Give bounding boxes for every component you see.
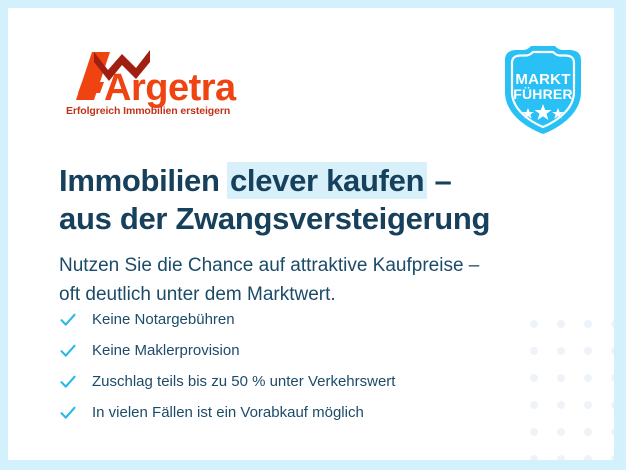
decorative-dot xyxy=(584,347,592,355)
decorative-dot xyxy=(584,428,592,436)
list-item: Zuschlag teils bis zu 50 % unter Verkehr… xyxy=(59,366,519,397)
argetra-logo: Argetra Erfolgreich Immobilien ersteiger… xyxy=(64,48,264,118)
headline-highlight: clever kaufen xyxy=(227,162,427,199)
list-item-label: Keine Maklerprovision xyxy=(92,342,240,359)
list-item: Keine Notargebühren xyxy=(59,304,519,335)
banner-content-area: Argetra Erfolgreich Immobilien ersteiger… xyxy=(8,8,614,460)
badge-line2: FÜHRER xyxy=(513,86,573,102)
decorative-dot xyxy=(557,401,565,409)
list-item-label: Keine Notargebühren xyxy=(92,311,235,328)
decorative-dot xyxy=(584,455,592,460)
decorative-dot xyxy=(557,347,565,355)
decorative-dot xyxy=(530,401,538,409)
decorative-dot xyxy=(557,455,565,460)
decorative-dot xyxy=(530,320,538,328)
subheadline-line1: Nutzen Sie die Chance auf attraktive Kau… xyxy=(59,255,479,276)
headline-line2: aus der Zwangsversteigerung xyxy=(59,200,559,238)
headline-part2: – xyxy=(426,163,451,198)
decorative-dot xyxy=(530,428,538,436)
decorative-dot xyxy=(611,320,614,328)
check-icon xyxy=(59,404,77,422)
decorative-dot xyxy=(611,428,614,436)
logo-tagline: Erfolgreich Immobilien ersteigern xyxy=(66,105,230,117)
decorative-dot-grid xyxy=(524,314,614,460)
promo-banner: Argetra Erfolgreich Immobilien ersteiger… xyxy=(0,0,626,470)
decorative-dot xyxy=(530,455,538,460)
decorative-dot xyxy=(611,374,614,382)
decorative-dot xyxy=(530,347,538,355)
decorative-dot xyxy=(584,374,592,382)
headline: Immobilien clever kaufen – aus der Zwang… xyxy=(59,162,559,238)
check-icon xyxy=(59,311,77,329)
subheadline: Nutzen Sie die Chance auf attraktive Kau… xyxy=(59,251,559,309)
check-icon xyxy=(59,342,77,360)
benefits-list: Keine NotargebührenKeine Maklerprovision… xyxy=(59,304,519,428)
decorative-dot xyxy=(611,401,614,409)
decorative-dot xyxy=(584,320,592,328)
decorative-dot xyxy=(530,374,538,382)
decorative-dot xyxy=(584,401,592,409)
decorative-dot xyxy=(611,347,614,355)
list-item-label: In vielen Fällen ist ein Vorabkauf mögli… xyxy=(92,404,364,421)
decorative-dot xyxy=(611,455,614,460)
marktfuehrer-badge: MARKT FÜHRER xyxy=(497,42,589,138)
list-item: Keine Maklerprovision xyxy=(59,335,519,366)
list-item: In vielen Fällen ist ein Vorabkauf mögli… xyxy=(59,397,519,428)
decorative-dot xyxy=(557,374,565,382)
logo-wordmark: Argetra xyxy=(104,67,237,109)
decorative-dot xyxy=(557,428,565,436)
check-icon xyxy=(59,373,77,391)
headline-part1: Immobilien xyxy=(59,163,228,198)
decorative-dot xyxy=(557,320,565,328)
list-item-label: Zuschlag teils bis zu 50 % unter Verkehr… xyxy=(92,373,395,390)
